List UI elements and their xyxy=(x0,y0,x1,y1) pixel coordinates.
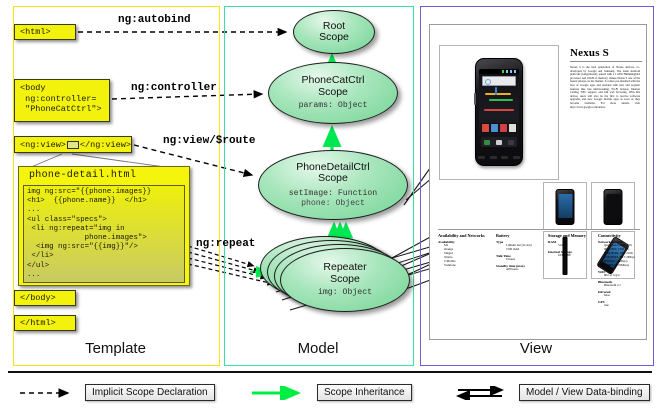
phone-illustration xyxy=(475,58,523,166)
code-box-ngview: <ng:view></ng:view> xyxy=(14,136,132,153)
thumbnail-1[interactable] xyxy=(543,182,587,230)
legend-label: Implicit Scope Declaration xyxy=(85,384,215,401)
column-label-view: View xyxy=(420,340,652,357)
spec-value: 428 hours xyxy=(496,268,544,272)
scope-root-line1: Root xyxy=(323,20,345,32)
spec-value: HSDPA (5.76Mbps) xyxy=(598,264,644,268)
scope-root-line2: Scope xyxy=(319,31,349,43)
hero-image-frame xyxy=(439,45,559,180)
scope-rep-line1: Repeater xyxy=(323,261,366,273)
specs-column-storage: Storage and Memory RAM 512MB Internal St… xyxy=(548,233,596,258)
legend-label: Model / View Data-binding xyxy=(519,384,650,401)
code-box-html-close: </html> xyxy=(14,315,76,331)
phone-search-widget xyxy=(482,76,516,86)
scope-phonedetailctrl: PhoneDetailCtrl Scope setImage: Function… xyxy=(258,150,408,220)
green-arrow-icon xyxy=(250,386,312,400)
scope-cat-prop-params: params: Object xyxy=(299,101,368,111)
specs-column-connectivity: Connectivity Network Support Quad-band G… xyxy=(598,233,644,308)
double-arrow-icon xyxy=(452,386,514,400)
scope-root: Root Scope xyxy=(293,10,375,54)
sticky-note-phone-detail: phone-detail.html img ng:src="{{phone.im… xyxy=(18,166,190,286)
ngview-placeholder-icon xyxy=(67,141,79,149)
scope-cat-line2: Scope xyxy=(318,86,348,98)
note-code: img ng:src="{{phone.images}} <h1> {{phon… xyxy=(23,185,185,283)
label-ng-autobind: ng:autobind xyxy=(118,14,191,26)
phone-app-row xyxy=(481,121,517,135)
code-box-html-open: <html> xyxy=(14,24,76,40)
spec-value: 1500 mAh xyxy=(496,248,544,252)
spec-value: 16384MB xyxy=(548,254,596,258)
ngview-open-tag: <ng:view> xyxy=(20,140,66,150)
spec-value: true xyxy=(598,304,644,308)
spec-header: Storage and Memory xyxy=(548,233,596,238)
view-heading-rule xyxy=(570,61,642,62)
label-ng-view-route: ng:view/$route xyxy=(163,135,255,147)
phone-tray xyxy=(481,137,517,147)
spec-value: Bluetooth 2.1 xyxy=(598,284,644,288)
thumbnail-phone-back-icon xyxy=(604,189,623,225)
spec-value: false xyxy=(598,294,644,298)
label-ng-repeat: ng:repeat xyxy=(196,238,255,250)
view-heading: Nexus S xyxy=(570,47,609,59)
legend-divider xyxy=(8,371,652,373)
specs-divider xyxy=(438,229,640,230)
phone-statusbar xyxy=(479,69,519,74)
thumbnail-2[interactable] xyxy=(591,182,635,230)
spec-header: Availability and Networks xyxy=(438,233,486,238)
code-box-body-close: </body> xyxy=(14,290,76,306)
phone-hardware-keys xyxy=(476,151,522,163)
dashed-arrow-icon xyxy=(18,386,80,400)
spec-header: Connectivity xyxy=(598,233,644,238)
view-description: Nexus S is the next generation of Nexus … xyxy=(570,66,640,109)
column-label-template: Template xyxy=(13,340,218,357)
spec-header: Battery xyxy=(496,233,544,238)
scope-detail-line2: Scope xyxy=(318,172,348,184)
column-label-model: Model xyxy=(224,340,412,357)
scope-rep-prop-img: img: Object xyxy=(318,288,372,298)
legend-label: Scope Inheritance xyxy=(317,384,412,401)
code-box-body-open: <body ng:controller= "PhoneCatCtrl"> xyxy=(14,79,110,122)
legend-item-scope-inheritance: Scope Inheritance xyxy=(250,384,412,401)
diagram-canvas: <html> <body ng:controller= "PhoneCatCtr… xyxy=(0,0,660,420)
specs-column-battery: Battery Type Lithium Ion (Li-Ion) 1500 m… xyxy=(496,233,544,272)
scope-repeater: Repeater Scope img: Object xyxy=(280,248,410,312)
scope-rep-line2: Scope xyxy=(330,273,360,285)
specs-table: Availability and Networks Availability M… xyxy=(438,233,640,335)
specs-column-availability: Availability and Networks Availability M… xyxy=(438,233,486,268)
ngview-close-tag: </ng:view> xyxy=(80,140,131,150)
spec-value: 512MB xyxy=(548,244,596,248)
scope-detail-line1: PhoneDetailCtrl xyxy=(296,161,370,173)
scope-detail-prop-setimage: setImage: Function xyxy=(289,189,377,199)
spec-value: 6 hours xyxy=(496,258,544,262)
view-rendered-page: Nexus S Nexus S is the next generation o… xyxy=(429,24,647,340)
phone-screen xyxy=(479,69,519,149)
legend-item-implicit-scope-declaration: Implicit Scope Declaration xyxy=(18,384,215,401)
scope-phonecatctrl: PhoneCatCtrl Scope params: Object xyxy=(268,62,398,124)
note-title: phone-detail.html xyxy=(29,170,136,181)
thumbnail-phone-front-icon xyxy=(556,189,575,225)
spec-value: Vodafone xyxy=(438,264,486,268)
legend-item-model-view-data-binding: Model / View Data-binding xyxy=(452,384,650,401)
label-ng-controller: ng:controller xyxy=(131,82,217,94)
scope-cat-line1: PhoneCatCtrl xyxy=(301,74,364,86)
scope-detail-prop-phone: phone: Object xyxy=(301,199,365,209)
spec-value: 802.11 b/g/n xyxy=(598,274,644,278)
phone-side-button-icon xyxy=(474,93,476,105)
